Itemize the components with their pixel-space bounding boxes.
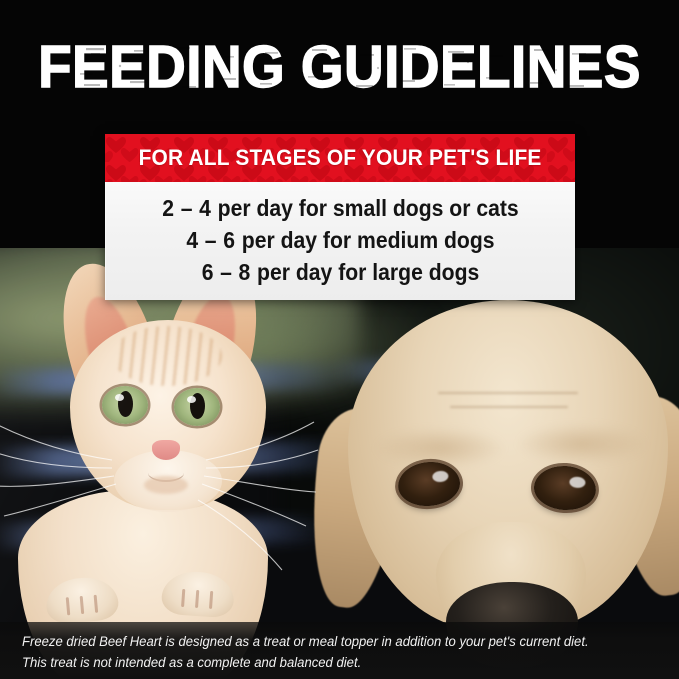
feeding-card: FOR ALL STAGES OF YOUR PET'S LIFE 2 – 4p… (105, 134, 575, 300)
feeding-guidelines-poster: FEEDING GUIDELINES (0, 0, 679, 679)
card-banner-title: FOR ALL STAGES OF YOUR PET'S LIFE (139, 145, 542, 171)
guideline-amount: 6 – 8 (202, 259, 251, 285)
guideline-row: 4 – 6per day for medium dogs (125, 224, 556, 256)
window-glass-sheen (0, 248, 679, 679)
guideline-amount: 4 – 6 (186, 227, 235, 253)
guideline-description: per day for medium dogs (242, 227, 495, 253)
guideline-row: 2 – 4per day for small dogs or cats (125, 192, 556, 224)
disclaimer-line: Freeze dried Beef Heart is designed as a… (22, 631, 659, 652)
card-body: 2 – 4per day for small dogs or cats 4 – … (105, 182, 575, 300)
disclaimer-footer: Freeze dried Beef Heart is designed as a… (0, 622, 679, 679)
guideline-row: 6 – 8per day for large dogs (125, 256, 556, 288)
guideline-amount: 2 – 4 (162, 195, 211, 221)
pet-photo (0, 248, 679, 679)
guideline-description: per day for small dogs or cats (218, 195, 519, 221)
page-title: FEEDING GUIDELINES (24, 38, 655, 96)
disclaimer-line: This treat is not intended as a complete… (22, 652, 659, 673)
card-banner: FOR ALL STAGES OF YOUR PET'S LIFE (105, 134, 575, 182)
guideline-description: per day for large dogs (257, 259, 479, 285)
